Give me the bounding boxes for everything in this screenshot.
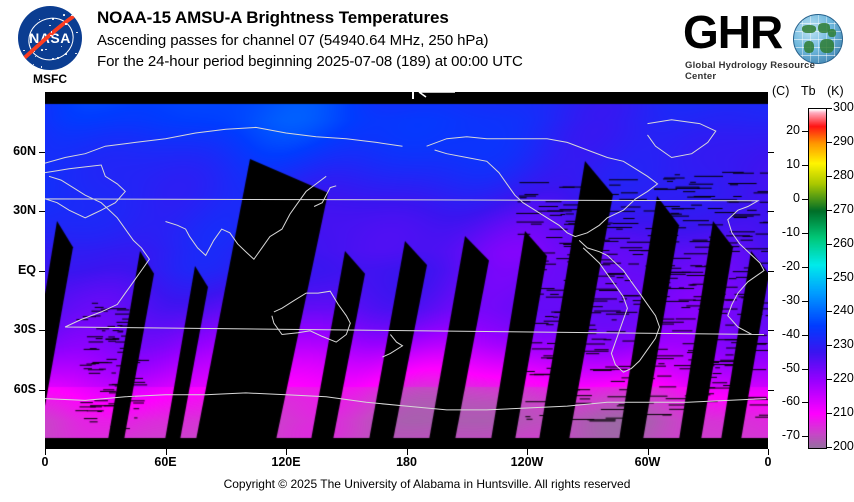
- ghrc-tagline: Global Hydrology Resource Center: [685, 60, 848, 82]
- x-axis-label: 0: [746, 455, 790, 469]
- y-axis-label: 30S: [0, 322, 36, 336]
- colorbar-label-celsius: 10: [770, 157, 800, 171]
- brightness-temperature-map[interactable]: [45, 101, 768, 440]
- colorbar-tick-celsius: [802, 199, 808, 200]
- coastline-path: [45, 165, 764, 335]
- globe-landmass: [820, 39, 834, 53]
- y-axis-label: 60N: [0, 144, 36, 158]
- y-axis-tick: [39, 390, 45, 391]
- x-axis-label: 60E: [144, 455, 188, 469]
- page-title: NOAA-15 AMSU-A Brightness Temperatures: [97, 8, 523, 28]
- globe-longitude-line: [810, 14, 811, 64]
- y-axis-tick: [768, 390, 774, 391]
- colorbar-label-celsius: -30: [770, 293, 800, 307]
- star-icon: [45, 49, 47, 51]
- colorbar-tick-celsius: [802, 233, 808, 234]
- y-axis-tick: [39, 271, 45, 272]
- colorbar-tick-kelvin: [826, 278, 832, 279]
- ghrc-logo: GHR Global Hydrology Resource Center: [683, 6, 848, 84]
- star-icon: [65, 53, 67, 55]
- left-arrow-cursor-icon: [411, 92, 457, 100]
- colorbar-label-kelvin: 220: [833, 371, 854, 385]
- star-icon: [78, 56, 80, 58]
- x-axis-label: 60W: [626, 455, 670, 469]
- subtitle-channel: Ascending passes for channel 07 (54940.6…: [97, 32, 523, 49]
- colorbar-tick-kelvin: [826, 379, 832, 380]
- star-icon: [57, 57, 59, 59]
- colorbar-label-celsius: -50: [770, 361, 800, 375]
- colorbar-label-kelvin: 240: [833, 303, 854, 317]
- globe-landmass: [802, 25, 816, 33]
- coastline-path: [272, 291, 350, 342]
- colorbar-tick-celsius: [802, 369, 808, 370]
- globe-longitude-line: [818, 14, 819, 64]
- y-axis-label: 30N: [0, 203, 36, 217]
- colorbar-label-celsius: 0: [770, 191, 800, 205]
- colorbar-unit-celsius: (C): [772, 84, 789, 98]
- y-axis-tick: [39, 211, 45, 212]
- x-axis-label: 120W: [505, 455, 549, 469]
- colorbar-label-kelvin: 270: [833, 202, 854, 216]
- coastline-path: [382, 335, 402, 358]
- globe-longitude-line: [834, 14, 835, 64]
- coastline-overlay: [45, 101, 768, 440]
- y-axis-tick: [768, 152, 774, 153]
- globe-landmass: [804, 41, 814, 53]
- y-axis-tick: [768, 211, 774, 212]
- colorbar-tick-celsius: [802, 301, 808, 302]
- colorbar-tick-kelvin: [826, 413, 832, 414]
- ghrc-wordmark: GHR: [683, 6, 782, 58]
- globe-longitude-line: [802, 14, 803, 64]
- star-icon: [52, 18, 54, 20]
- colorbar-tick-celsius: [802, 436, 808, 437]
- colorbar-tick-kelvin: [826, 176, 832, 177]
- colorbar-label-celsius: -10: [770, 225, 800, 239]
- coastline-path: [427, 137, 658, 237]
- coastline-path: [648, 120, 716, 158]
- ghrc-globe-icon: [793, 14, 843, 64]
- star-icon: [28, 8, 30, 10]
- star-icon: [41, 49, 43, 51]
- colorbar-label-kelvin: 210: [833, 405, 854, 419]
- colorbar-tick-celsius: [802, 267, 808, 268]
- title-block: NOAA-15 AMSU-A Brightness Temperatures A…: [97, 8, 523, 70]
- y-axis-tick: [39, 330, 45, 331]
- colorbar-label-kelvin: 230: [833, 337, 854, 351]
- colorbar-tick-kelvin: [826, 345, 832, 346]
- y-axis-label: EQ: [0, 263, 36, 277]
- colorbar-tick-kelvin: [826, 311, 832, 312]
- colorbar-tick-celsius: [802, 402, 808, 403]
- colorbar-label-kelvin: 260: [833, 236, 854, 250]
- colorbar-variable-label: Tb: [801, 84, 816, 98]
- subtitle-period: For the 24-hour period beginning 2025-07…: [97, 53, 523, 70]
- star-icon: [51, 31, 53, 33]
- colorbar-label-celsius: -20: [770, 259, 800, 273]
- colorbar-tick-kelvin: [826, 142, 832, 143]
- colorbar-tick-celsius: [802, 335, 808, 336]
- colorbar-label-kelvin: 290: [833, 134, 854, 148]
- colorbar-label-kelvin: 280: [833, 168, 854, 182]
- star-icon: [21, 11, 23, 13]
- colorbar-label-kelvin: 300: [833, 100, 854, 114]
- colorbar-label-celsius: -40: [770, 327, 800, 341]
- coastline-path: [579, 240, 659, 372]
- nasa-center-label: MSFC: [10, 72, 90, 86]
- star-icon: [75, 53, 77, 55]
- star-icon: [63, 14, 65, 16]
- coastline-path: [314, 186, 336, 207]
- nasa-logo: NASA MSFC: [10, 6, 90, 90]
- coastline-path: [45, 393, 766, 410]
- y-axis-label: 60S: [0, 382, 36, 396]
- colorbar-label-kelvin: 200: [833, 439, 854, 453]
- star-icon: [65, 23, 67, 25]
- colorbar-tick-kelvin: [826, 447, 832, 448]
- x-axis-label: 0: [23, 455, 67, 469]
- colorbar-tick-kelvin: [826, 108, 832, 109]
- x-axis-label: 180: [385, 455, 429, 469]
- map-plot-area[interactable]: [45, 92, 768, 449]
- star-icon: [52, 58, 54, 60]
- globe-landmass: [828, 29, 836, 37]
- colorbar-unit-kelvin: (K): [827, 84, 844, 98]
- colorbar-tick-celsius: [802, 131, 808, 132]
- y-axis-tick: [39, 152, 45, 153]
- x-axis-label: 120E: [264, 455, 308, 469]
- colorbar-tick-kelvin: [826, 210, 832, 211]
- colorbar-label-kelvin: 250: [833, 270, 854, 284]
- colorbar-gradient: [809, 109, 826, 448]
- colorbar-label-celsius: -70: [770, 428, 800, 442]
- colorbar-label-celsius: 20: [770, 123, 800, 137]
- copyright-notice: Copyright © 2025 The University of Alaba…: [0, 477, 854, 491]
- nasa-meatball-icon: NASA: [18, 6, 82, 70]
- colorbar-label-celsius: -60: [770, 394, 800, 408]
- colorbar-tick-kelvin: [826, 244, 832, 245]
- colorbar-tick-celsius: [802, 165, 808, 166]
- coastline-path: [45, 127, 403, 163]
- coastline-path: [166, 176, 327, 259]
- colorbar[interactable]: [808, 108, 827, 449]
